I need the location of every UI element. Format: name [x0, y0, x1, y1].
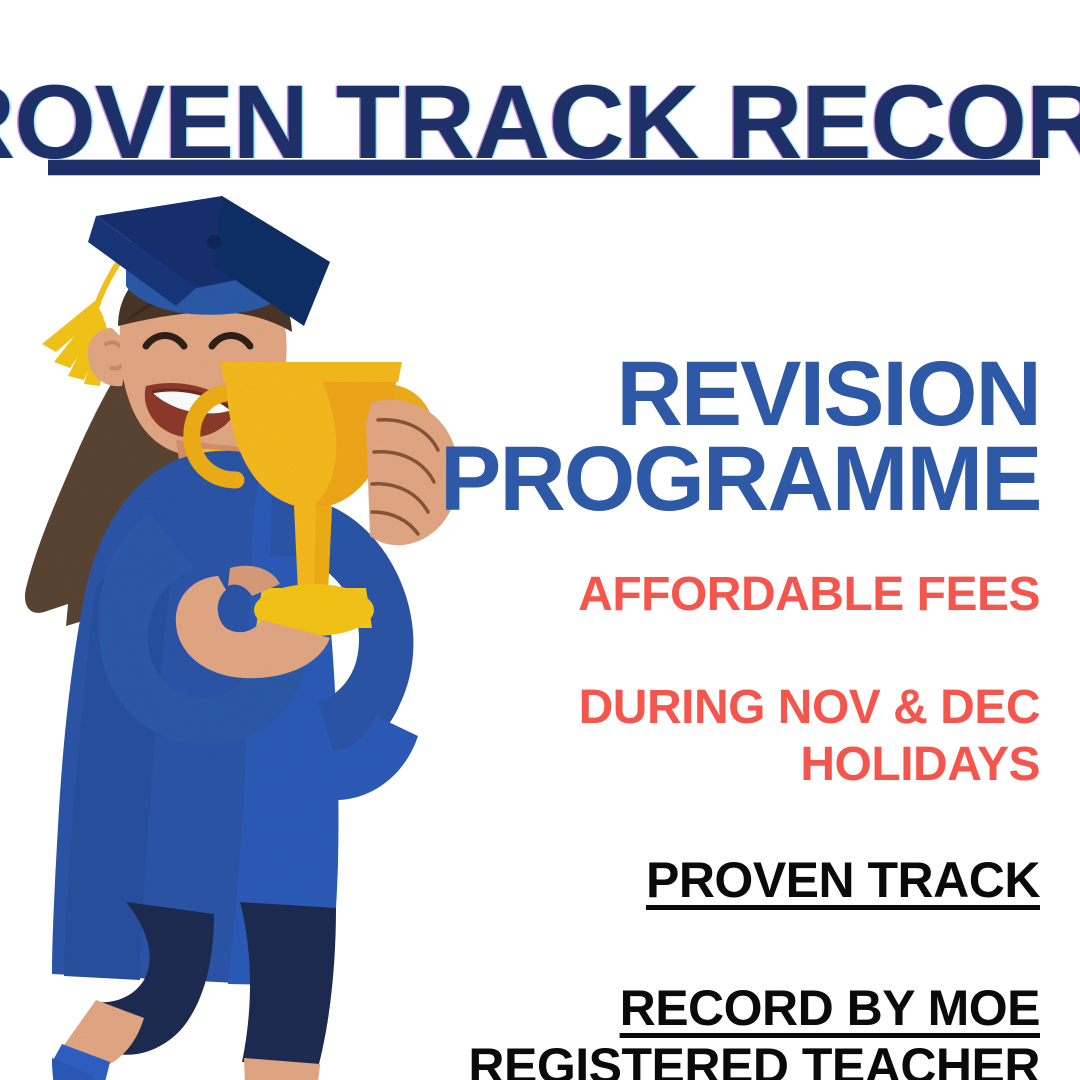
- benefit-dates-line-1: DURING NOV & DEC: [579, 681, 1040, 734]
- benefit-moe-teacher: RECORD BY MOE REGISTERED TEACHER: [440, 979, 1040, 1080]
- programme-title-line-1: REVISION: [440, 352, 1040, 437]
- programme-title: REVISION PROGRAMME: [440, 352, 1040, 521]
- headline-underline-rule: [48, 160, 1040, 175]
- programme-title-line-2: PROGRAMME: [440, 437, 1040, 522]
- benefit-proven-track-text: PROVEN TRACK: [646, 852, 1040, 908]
- benefit-affordable-fees: AFFORDABLE FEES: [440, 567, 1040, 624]
- benefit-moe-teacher-line-2: REGISTERED TEACHER: [468, 1038, 1040, 1080]
- page-title: PROVEN TRACK RECORD!: [0, 70, 1080, 175]
- benefit-dates: DURING NOV & DEC HOLIDAYS: [440, 680, 1040, 793]
- benefit-proven-track: PROVEN TRACK: [440, 851, 1040, 909]
- benefit-dates-line-2: HOLIDAYS: [800, 738, 1040, 791]
- benefit-moe-teacher-line-1: RECORD BY MOE: [620, 980, 1040, 1036]
- poster-canvas: PROVEN TRACK RECORD!: [0, 0, 1080, 1080]
- graduate-illustration: [0, 196, 500, 1080]
- copy-column: REVISION PROGRAMME AFFORDABLE FEES DURIN…: [440, 352, 1040, 1080]
